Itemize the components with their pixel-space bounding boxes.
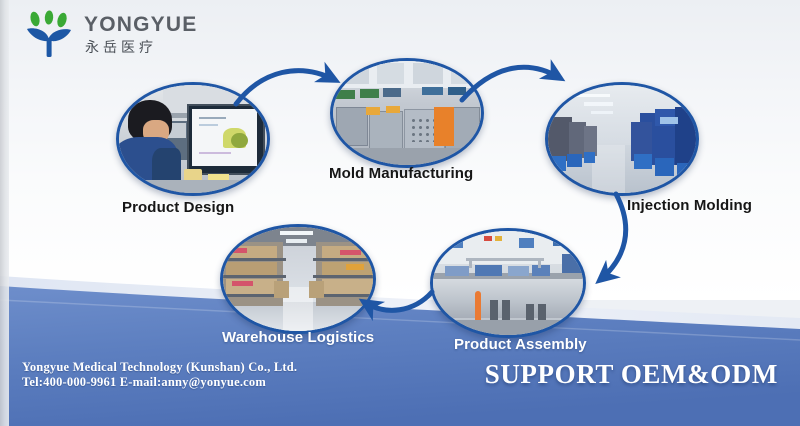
company-contact: Tel:400-000-9961 E-mail:anny@yonyue.com — [22, 375, 297, 390]
arrow-design-to-mold — [236, 71, 335, 104]
arrow-mold-to-injection — [462, 67, 560, 100]
company-name: Yongyue Medical Technology (Kunshan) Co.… — [22, 360, 297, 375]
company-contact-block: Yongyue Medical Technology (Kunshan) Co.… — [22, 360, 297, 390]
arrow-injection-to-assembly — [600, 194, 626, 280]
banner-canvas: YONGYUE 永岳医疗 — [0, 0, 800, 426]
slogan-support-oem-odm: SUPPORT OEM&ODM — [485, 359, 778, 390]
arrow-assembly-to-warehouse — [364, 292, 432, 310]
